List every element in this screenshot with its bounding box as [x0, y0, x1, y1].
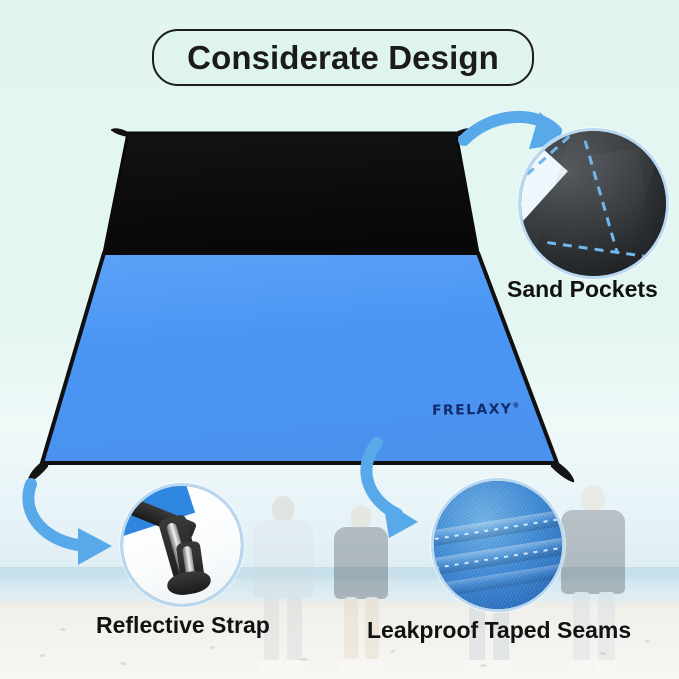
reflective-strap-label: Reflective Strap	[96, 612, 270, 639]
sand-pockets-inset	[518, 128, 669, 279]
blanket-blue-panel	[42, 253, 557, 463]
infographic-canvas: Considerate Design FRELAXY®	[0, 0, 679, 679]
corner-tab-bottom-right	[552, 463, 573, 481]
beach-blanket-illustration	[0, 0, 679, 679]
corner-tab-top-left	[112, 129, 128, 136]
brand-name: FRELAXY	[432, 401, 513, 419]
corner-tab-bottom-left	[29, 463, 47, 481]
brand-logo: FRELAXY®	[432, 401, 521, 419]
corner-tab-top-right	[456, 129, 472, 136]
sand-pockets-label: Sand Pockets	[507, 276, 658, 303]
leakproof-taped-seams-label: Leakproof Taped Seams	[367, 617, 631, 644]
taped-seams-inset	[431, 478, 565, 612]
reflective-strap-inset	[120, 483, 244, 607]
blanket-black-panel	[104, 133, 478, 253]
registered-mark: ®	[512, 401, 521, 409]
